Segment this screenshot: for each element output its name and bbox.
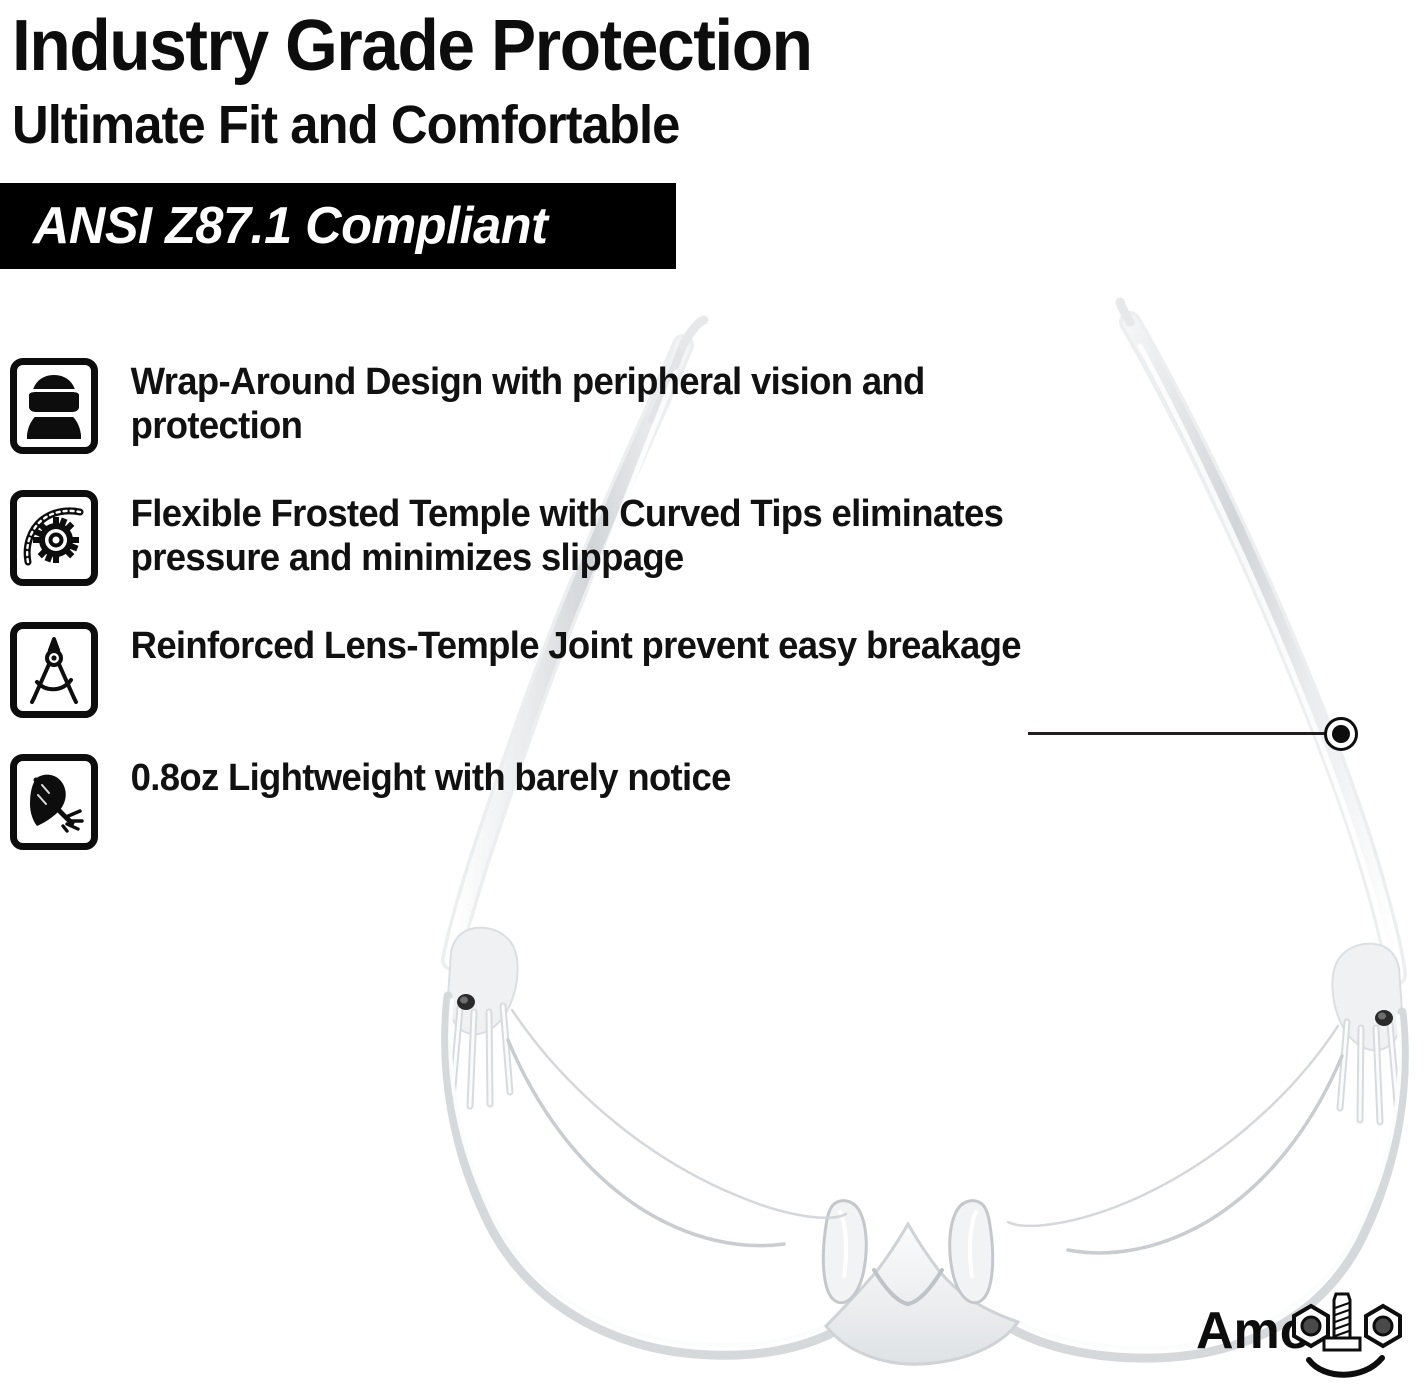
feature-item-reinforced-joint: Reinforced Lens-Temple Joint prevent eas… (10, 622, 1090, 718)
product-infographic: Industry Grade Protection Ultimate Fit a… (0, 0, 1426, 1387)
feature-list: Wrap-Around Design with peripheral visio… (10, 358, 1090, 886)
smile-arc-icon (1309, 1358, 1382, 1375)
headline-block: Industry Grade Protection Ultimate Fit a… (12, 0, 863, 156)
feature-label-wrap-around: Wrap-Around Design with peripheral visio… (98, 358, 1050, 448)
drafting-compass-icon (10, 622, 98, 718)
ansi-badge-label: ANSI Z87.1 Compliant (0, 196, 547, 256)
goggles-head-icon (10, 358, 98, 454)
feature-label-flexible-temple: Flexible Frosted Temple with Curved Tips… (98, 490, 1050, 580)
feature-label-reinforced-joint: Reinforced Lens-Temple Joint prevent eas… (98, 622, 1050, 668)
brand-logo-amoolo: Amo (1196, 1286, 1402, 1382)
ansi-compliance-badge: ANSI Z87.1 Compliant (0, 183, 676, 269)
callout-leader (1028, 714, 1368, 754)
callout-line (1028, 732, 1328, 735)
feature-item-wrap-around: Wrap-Around Design with peripheral visio… (10, 358, 1090, 454)
page-subtitle: Ultimate Fit and Comfortable (12, 86, 812, 156)
feather-icon (10, 754, 98, 850)
left-hinge (448, 928, 518, 1106)
hex-nut-right-icon (1366, 1306, 1400, 1346)
feature-item-flexible-temple: Flexible Frosted Temple with Curved Tips… (10, 490, 1090, 586)
chain-sprocket-icon (10, 490, 98, 586)
callout-dot-marker (1324, 717, 1358, 751)
page-title: Industry Grade Protection (12, 0, 812, 86)
right-hinge (1332, 944, 1402, 1122)
feature-label-lightweight: 0.8oz Lightweight with barely notice (98, 754, 1050, 800)
feature-item-lightweight: 0.8oz Lightweight with barely notice (10, 754, 1090, 850)
